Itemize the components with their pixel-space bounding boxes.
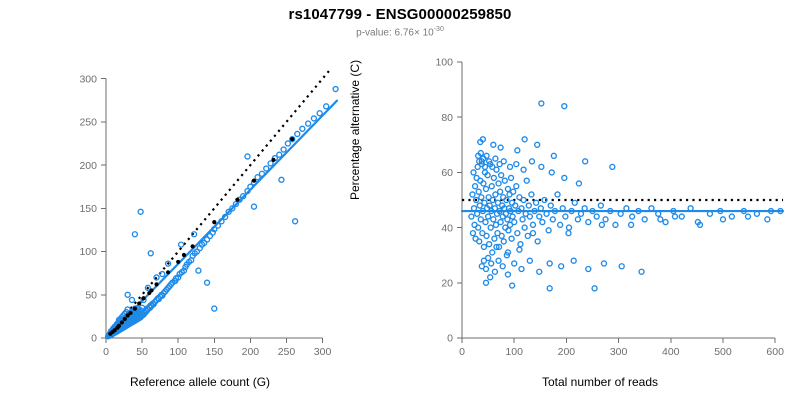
data-point	[509, 236, 514, 241]
data-point	[476, 189, 481, 194]
data-point	[524, 178, 529, 183]
y-tick-label: 100	[79, 246, 97, 258]
data-point	[470, 192, 475, 197]
data-point	[539, 101, 544, 106]
data-point	[601, 261, 606, 266]
data-point	[196, 268, 201, 273]
x-tick-label: 100	[505, 346, 523, 358]
data-point	[679, 214, 684, 219]
data-point	[526, 203, 531, 208]
data-point	[583, 159, 588, 164]
data-point	[530, 222, 535, 227]
data-point	[505, 217, 510, 222]
data-point	[529, 159, 534, 164]
data-point	[484, 186, 489, 191]
x-tick-label: 600	[766, 346, 784, 358]
data-point	[484, 233, 489, 238]
data-point	[132, 232, 137, 237]
dense-data-point	[176, 260, 180, 264]
data-point	[510, 283, 515, 288]
data-point	[613, 222, 618, 227]
data-point	[508, 164, 513, 169]
data-point	[630, 214, 635, 219]
data-point	[663, 220, 668, 225]
data-point	[639, 269, 644, 274]
data-point	[521, 198, 526, 203]
y-tick-label: 50	[85, 289, 97, 301]
data-point	[488, 275, 493, 280]
data-point	[490, 250, 495, 255]
data-point	[514, 184, 519, 189]
data-point	[317, 111, 322, 116]
data-point	[279, 177, 284, 182]
dense-data-point	[128, 311, 132, 315]
data-point	[525, 233, 530, 238]
data-point	[205, 280, 210, 285]
data-point	[746, 214, 751, 219]
dense-data-point	[137, 301, 141, 305]
data-point	[469, 214, 474, 219]
data-point	[251, 204, 256, 209]
data-point	[610, 164, 615, 169]
data-point	[537, 269, 542, 274]
data-point	[534, 200, 539, 205]
panel-reads-vs-percentage: 0100200300400500600020406080100 Total nu…	[400, 0, 800, 400]
right-y-axis-title: Percentage alternative (C)	[348, 60, 362, 200]
data-point	[576, 181, 581, 186]
data-point	[129, 297, 134, 302]
data-point	[518, 242, 523, 247]
data-point	[729, 214, 734, 219]
data-point	[259, 171, 264, 176]
data-point	[489, 184, 494, 189]
data-point	[558, 222, 563, 227]
x-tick-label: 300	[314, 346, 332, 358]
data-point	[539, 164, 544, 169]
dense-data-point	[149, 288, 153, 292]
data-point	[535, 142, 540, 147]
x-tick-label: 300	[610, 346, 628, 358]
data-point	[476, 225, 481, 230]
data-point	[498, 189, 503, 194]
data-point	[547, 286, 552, 291]
data-point	[520, 217, 525, 222]
data-point	[179, 242, 184, 247]
data-point	[537, 214, 542, 219]
x-tick-label: 150	[206, 346, 224, 358]
data-point	[477, 239, 482, 244]
data-point	[300, 126, 305, 131]
data-point	[486, 255, 491, 260]
y-tick-label: 20	[441, 278, 453, 290]
data-point	[484, 267, 489, 272]
dense-data-point	[108, 332, 112, 336]
data-point	[491, 142, 496, 147]
data-point	[535, 239, 540, 244]
data-point	[549, 170, 554, 175]
x-tick-label: 100	[169, 346, 187, 358]
data-point	[471, 170, 476, 175]
x-tick-label: 200	[242, 346, 260, 358]
data-point	[487, 242, 492, 247]
y-tick-label: 80	[441, 112, 453, 124]
data-point	[277, 152, 282, 157]
data-point	[559, 264, 564, 269]
identity-line	[106, 70, 330, 338]
data-point	[491, 175, 496, 180]
dense-data-point	[191, 244, 195, 248]
panel-reference-vs-alternative: 050100150200250300050100150200250300 Ref…	[0, 0, 400, 400]
data-point	[501, 159, 506, 164]
dense-data-point	[141, 296, 145, 300]
data-point	[672, 214, 677, 219]
left-x-axis-title: Reference allele count (G)	[0, 375, 400, 389]
data-point	[500, 264, 505, 269]
data-point	[264, 166, 269, 171]
data-point	[522, 137, 527, 142]
data-point	[499, 233, 504, 238]
x-tick-label: 50	[136, 346, 148, 358]
ase-figure: rs1047799 - ENSG00000259850 p-value: 6.7…	[0, 0, 800, 400]
data-point	[509, 175, 514, 180]
data-point	[285, 141, 290, 146]
data-point	[550, 217, 555, 222]
data-point	[499, 173, 504, 178]
data-point	[505, 272, 510, 277]
data-point	[642, 217, 647, 222]
y-tick-label: 200	[79, 160, 97, 172]
dense-data-point	[166, 270, 170, 274]
data-point	[765, 217, 770, 222]
dense-data-point	[182, 253, 186, 257]
y-tick-label: 0	[447, 333, 453, 345]
data-point	[567, 225, 572, 230]
dense-data-point	[120, 320, 124, 324]
dense-data-point	[212, 220, 216, 224]
data-point	[566, 231, 571, 236]
data-point	[598, 203, 603, 208]
data-point	[324, 104, 329, 109]
data-point	[555, 192, 560, 197]
dense-data-point	[290, 137, 294, 141]
data-point	[586, 220, 591, 225]
data-point	[540, 220, 545, 225]
dense-data-point	[133, 307, 137, 311]
data-point	[489, 261, 494, 266]
data-point	[594, 214, 599, 219]
x-tick-label: 0	[103, 346, 109, 358]
data-point	[502, 178, 507, 183]
data-point	[293, 219, 298, 224]
data-point	[125, 292, 130, 297]
data-point	[514, 162, 519, 167]
data-point	[658, 217, 663, 222]
data-point	[592, 286, 597, 291]
y-tick-label: 0	[91, 333, 97, 345]
data-point	[492, 269, 497, 274]
data-point	[473, 184, 478, 189]
data-point	[482, 200, 487, 205]
data-point	[470, 231, 475, 236]
data-point	[512, 220, 517, 225]
data-point	[491, 217, 496, 222]
left-plot-canvas: 050100150200250300050100150200250300	[0, 0, 400, 400]
x-tick-label: 400	[662, 346, 680, 358]
dense-data-point	[252, 179, 256, 183]
data-point	[295, 131, 300, 136]
y-tick-label: 300	[79, 73, 97, 85]
data-point	[563, 214, 568, 219]
x-tick-label: 250	[278, 346, 296, 358]
data-point	[486, 214, 491, 219]
y-tick-label: 40	[441, 222, 453, 234]
data-point	[493, 156, 498, 161]
data-point	[505, 186, 510, 191]
y-tick-label: 150	[79, 203, 97, 215]
data-point	[281, 147, 286, 152]
data-point	[138, 209, 143, 214]
dense-data-point	[123, 317, 127, 321]
data-point	[498, 220, 503, 225]
data-point	[629, 222, 634, 227]
x-tick-label: 0	[459, 346, 465, 358]
data-points	[469, 101, 783, 291]
dense-data-point	[271, 158, 275, 162]
y-tick-label: 60	[441, 167, 453, 179]
y-tick-label: 100	[435, 57, 453, 69]
data-point	[515, 148, 520, 153]
data-point	[529, 192, 534, 197]
x-tick-label: 500	[714, 346, 732, 358]
data-point	[519, 267, 524, 272]
data-point	[496, 258, 501, 263]
data-point	[333, 87, 338, 92]
data-point	[496, 181, 501, 186]
data-point	[546, 228, 551, 233]
data-point	[619, 264, 624, 269]
data-point	[484, 280, 489, 285]
data-points	[106, 87, 338, 339]
data-point	[551, 153, 556, 158]
data-point	[527, 214, 532, 219]
data-point	[501, 239, 506, 244]
data-point	[245, 154, 250, 159]
data-point	[148, 251, 153, 256]
data-point	[515, 231, 520, 236]
data-point	[530, 231, 535, 236]
data-point	[586, 267, 591, 272]
data-point	[306, 121, 311, 126]
data-point	[522, 225, 527, 230]
data-point	[311, 116, 316, 121]
data-point	[488, 225, 493, 230]
data-point	[562, 175, 567, 180]
data-point	[512, 261, 517, 266]
data-point	[483, 220, 488, 225]
data-point	[599, 222, 604, 227]
dense-data-point	[154, 282, 158, 286]
data-point	[575, 217, 580, 222]
data-point	[527, 258, 532, 263]
data-point	[603, 217, 608, 222]
data-point	[548, 203, 553, 208]
data-point	[521, 167, 526, 172]
y-tick-label: 250	[79, 117, 97, 129]
data-point	[562, 104, 567, 109]
x-tick-label: 200	[558, 346, 576, 358]
data-point	[547, 261, 552, 266]
data-point	[481, 244, 486, 249]
data-point	[212, 306, 217, 311]
data-point	[492, 236, 497, 241]
data-point	[571, 258, 576, 263]
data-point	[511, 189, 516, 194]
data-point	[510, 214, 515, 219]
data-point	[572, 200, 577, 205]
data-point	[720, 217, 725, 222]
data-point	[517, 247, 522, 252]
data-point	[498, 145, 503, 150]
dense-data-point	[235, 198, 239, 202]
right-plot-canvas: 0100200300400500600020406080100	[400, 0, 800, 400]
right-x-axis-title: Total number of reads	[400, 375, 800, 389]
